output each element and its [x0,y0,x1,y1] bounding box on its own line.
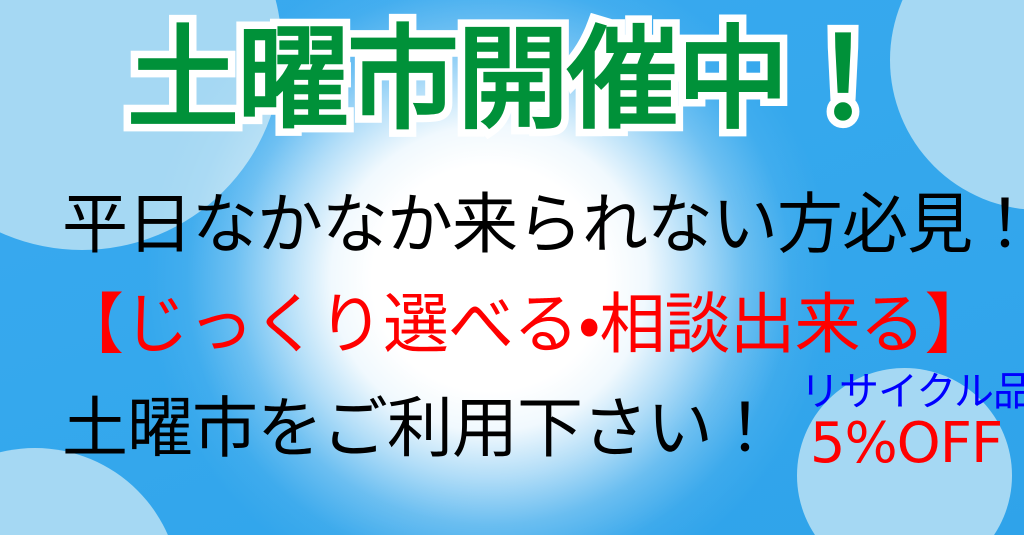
badge-discount-value: 5%OFF [800,416,1012,472]
banner-subline-3: 土曜市をご利用下さい！ [62,396,777,462]
recycle-discount-badge: リサイクル品 5%OFF [800,372,1012,472]
banner-subline-1: 平日なかなか来られない方必見！ [62,192,1024,258]
badge-title-label: リサイクル品 [800,372,1012,412]
banner-headline: 土曜市開催中！ [0,22,1024,140]
banner-subline-2-highlight: 【じっくり選べる・相談出来る】 [58,292,989,358]
banner-content: 土曜市開催中！ 平日なかなか来られない方必見！ 【じっくり選べる・相談出来る】 … [0,0,1024,535]
promo-banner: 土曜市開催中！ 平日なかなか来られない方必見！ 【じっくり選べる・相談出来る】 … [0,0,1024,535]
